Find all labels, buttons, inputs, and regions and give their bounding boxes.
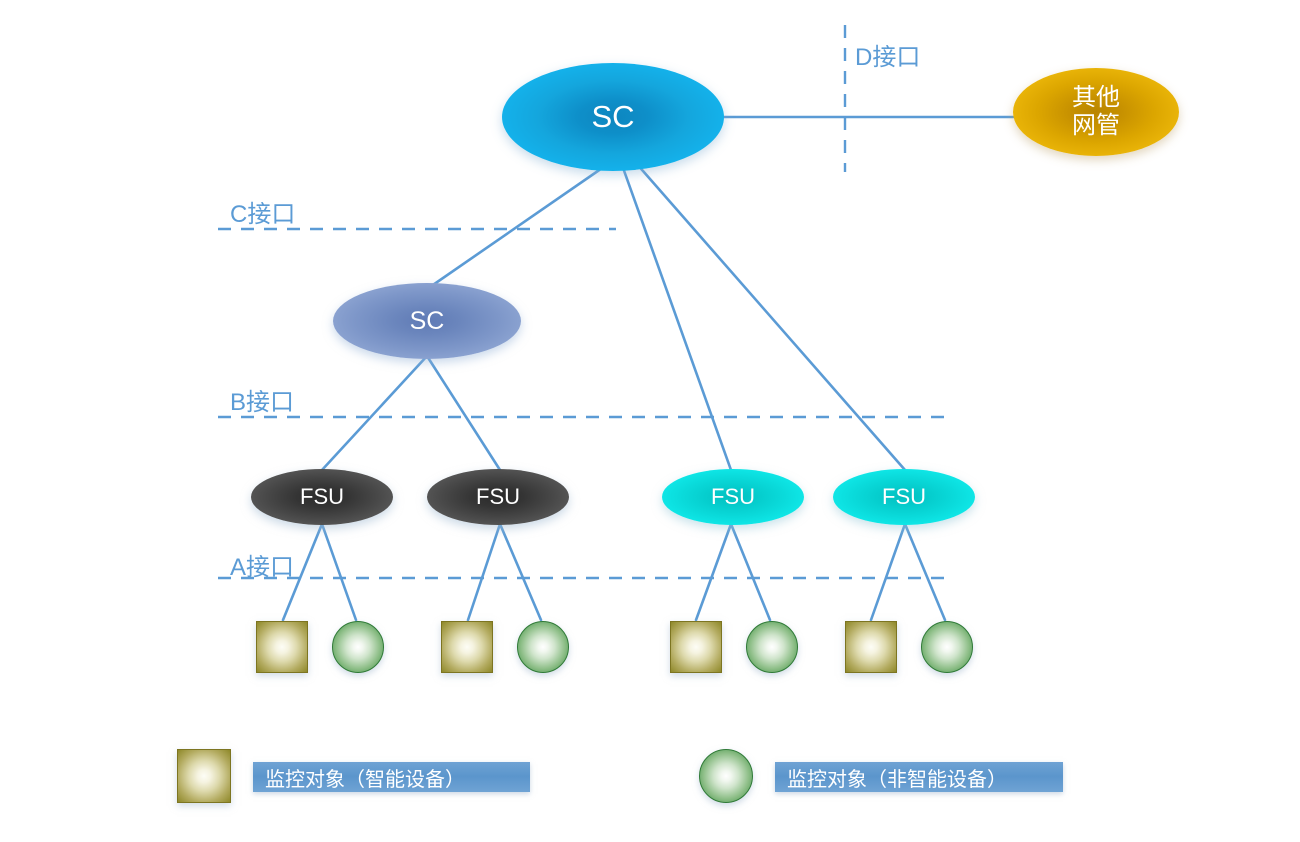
node-sc-mid[interactable]: SC bbox=[333, 283, 521, 359]
node-fsu-1-label: FSU bbox=[300, 484, 344, 509]
interface-label-d: D接口 bbox=[855, 37, 920, 72]
link-sc_mid-to-fsu_1 bbox=[322, 356, 427, 470]
link-fsu_1-to-device_2 bbox=[322, 524, 356, 620]
link-sc_top-to-fsu_4 bbox=[636, 163, 905, 470]
link-fsu_2-to-device_4 bbox=[500, 524, 541, 620]
node-fsu-1[interactable]: FSU bbox=[251, 469, 393, 525]
node-other-nms-label-line1: 其他 bbox=[1072, 84, 1120, 112]
node-sc-mid-label: SC bbox=[410, 307, 445, 336]
link-fsu_4-to-device_7 bbox=[871, 524, 905, 620]
link-sc_top-to-fsu_3 bbox=[622, 165, 731, 470]
diagram-canvas: SC SC 其他 网管 FSUFSUFSUFSU D接口C接口B接口A接口 监控… bbox=[0, 0, 1300, 842]
legend-swatch-nonsmart-device bbox=[699, 749, 753, 803]
device-smart-1[interactable] bbox=[256, 621, 308, 673]
node-other-nms-label-line2: 网管 bbox=[1072, 112, 1120, 140]
device-nonsmart-6[interactable] bbox=[746, 621, 798, 673]
link-fsu_3-to-device_5 bbox=[696, 524, 731, 620]
solid-link-group bbox=[283, 117, 1013, 620]
device-smart-7[interactable] bbox=[845, 621, 897, 673]
device-nonsmart-4[interactable] bbox=[517, 621, 569, 673]
interface-label-b: B接口 bbox=[230, 382, 294, 417]
node-fsu-4[interactable]: FSU bbox=[833, 469, 975, 525]
node-fsu-3-label: FSU bbox=[711, 484, 755, 509]
node-fsu-3[interactable]: FSU bbox=[662, 469, 804, 525]
link-fsu_2-to-device_3 bbox=[468, 524, 500, 620]
link-fsu_3-to-device_6 bbox=[731, 524, 770, 620]
node-sc-top[interactable]: SC bbox=[502, 63, 724, 171]
node-other-nms[interactable]: 其他 网管 bbox=[1013, 68, 1179, 156]
legend-swatch-smart-device bbox=[177, 749, 231, 803]
node-sc-top-label: SC bbox=[591, 99, 634, 135]
interface-label-c: C接口 bbox=[230, 194, 295, 229]
node-fsu-4-label: FSU bbox=[882, 484, 926, 509]
legend-caption-1: 监控对象（智能设备） bbox=[253, 762, 530, 792]
node-fsu-2[interactable]: FSU bbox=[427, 469, 569, 525]
legend-caption-2: 监控对象（非智能设备） bbox=[775, 762, 1063, 792]
link-fsu_4-to-device_8 bbox=[905, 524, 945, 620]
link-sc_mid-to-fsu_2 bbox=[427, 356, 500, 470]
node-fsu-2-label: FSU bbox=[476, 484, 520, 509]
device-smart-3[interactable] bbox=[441, 621, 493, 673]
device-nonsmart-2[interactable] bbox=[332, 621, 384, 673]
device-smart-5[interactable] bbox=[670, 621, 722, 673]
device-nonsmart-8[interactable] bbox=[921, 621, 973, 673]
interface-label-a: A接口 bbox=[230, 547, 294, 582]
link-sc_top-to-sc_mid bbox=[430, 164, 608, 287]
